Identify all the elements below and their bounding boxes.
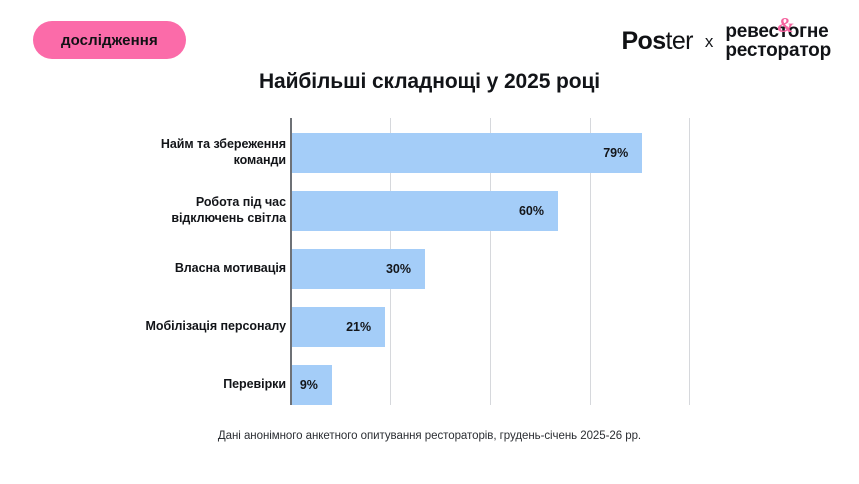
chart-bar-row: Робота під час відключень світла60% <box>0 191 859 231</box>
chart-bar: 9% <box>292 365 332 405</box>
partner-logo-line-1-a: реве <box>725 21 768 42</box>
chart-category-label: Перевірки <box>120 377 286 393</box>
chart-bar-value: 9% <box>300 378 332 392</box>
chart-bar-row: Власна мотивація30% <box>0 249 859 289</box>
chart-bar: 60% <box>292 191 558 231</box>
chart-bar-rows: Найм та збереження команди79%Робота під … <box>0 118 859 405</box>
chart-bar: 21% <box>292 307 385 347</box>
chart-category-label: Власна мотивація <box>120 261 286 277</box>
ampersand-icon: & <box>777 15 793 36</box>
infographic-page: дослідження Poster x ревестогне& рестора… <box>0 0 859 484</box>
partner-logo-line-2: ресторатор <box>725 41 831 60</box>
partner-logo: ревестогне& ресторатор <box>725 22 831 61</box>
chart-title: Найбільші складнощі у 2025 році <box>0 70 859 94</box>
chart-bar-row: Найм та збереження команди79% <box>0 133 859 173</box>
chart-bar-wrapper: 79% <box>292 133 642 173</box>
collab-x-icon: x <box>704 33 715 50</box>
research-badge: дослідження <box>33 21 186 59</box>
chart-category-label: Найм та збереження команди <box>120 137 286 169</box>
chart-bar-wrapper: 60% <box>292 191 558 231</box>
chart-category-label: Робота під час відключень світла <box>120 195 286 227</box>
chart-bar-value: 60% <box>519 204 558 218</box>
poster-logo: Poster <box>621 29 692 54</box>
poster-logo-light: ter <box>666 29 693 54</box>
chart-category-label: Мобілізація персоналу <box>120 319 286 335</box>
chart-bar: 79% <box>292 133 642 173</box>
brand-lockup: Poster x ревестогне& ресторатор <box>621 22 831 61</box>
chart-bar-wrapper: 9% <box>292 365 332 405</box>
chart-bar-wrapper: 21% <box>292 307 385 347</box>
chart-bar-row: Мобілізація персоналу21% <box>0 307 859 347</box>
poster-logo-bold: Pos <box>621 29 665 54</box>
partner-logo-line-1: ревестогне& <box>725 22 831 41</box>
chart-bar-value: 21% <box>346 320 385 334</box>
chart-bar-wrapper: 30% <box>292 249 425 289</box>
bar-chart: Найм та збереження команди79%Робота під … <box>0 118 859 410</box>
research-badge-label: дослідження <box>61 32 158 49</box>
source-note: Дані анонімного анкетного опитування рес… <box>0 430 859 442</box>
chart-bar-row: Перевірки9% <box>0 365 859 405</box>
chart-bar-value: 79% <box>603 146 642 160</box>
chart-bar: 30% <box>292 249 425 289</box>
chart-bar-value: 30% <box>386 262 425 276</box>
